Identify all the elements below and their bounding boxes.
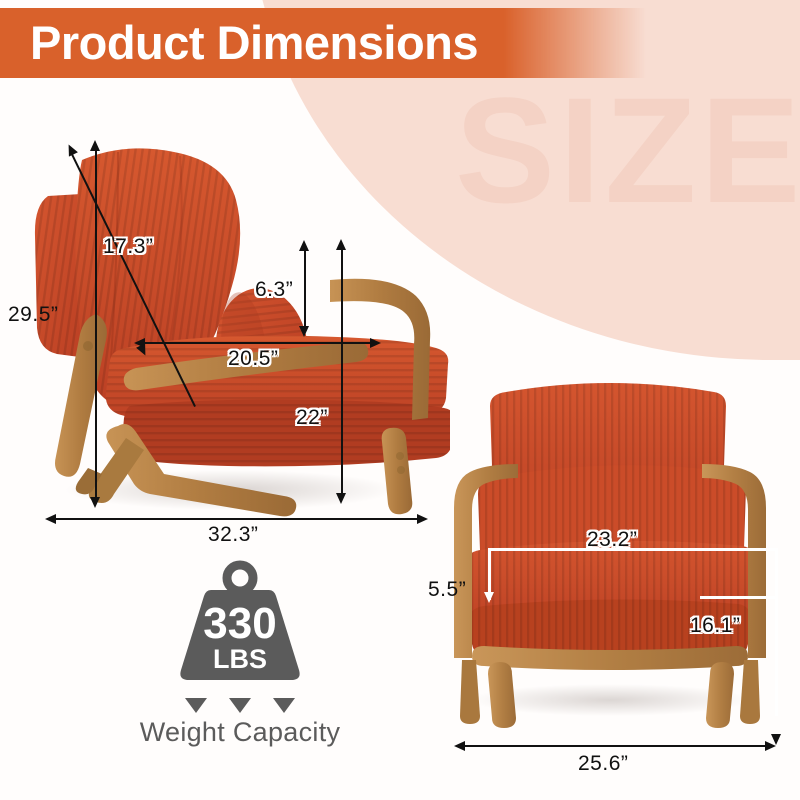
down-triangle-icon-2 [229, 698, 251, 713]
weight-amount-text: 330 [203, 599, 276, 648]
arrow-arm-height-bottom [336, 493, 346, 504]
down-triangle-icon-3 [273, 698, 295, 713]
arrow-overall-height-bottom [90, 497, 100, 508]
dim-overall-width: 25.6” [578, 752, 628, 776]
weight-arrows-row [130, 698, 350, 713]
dim-seat-width: 23.2” [587, 528, 637, 552]
weight-capacity-caption: Weight Capacity [130, 717, 350, 748]
arrow-arm-above-bottom [299, 326, 309, 337]
rule-overall-depth [55, 518, 420, 520]
rule-arm-height [341, 247, 343, 497]
rule-seat-depth [143, 342, 373, 344]
dim-arm-height-above-seat: 6.3” [255, 278, 293, 302]
arrow-cushion-thickness-bottom [484, 592, 494, 603]
arrow-seat-height-bottom [771, 734, 781, 745]
rule-seat-width-right-tick [775, 548, 778, 600]
rule-seat-height-cap [700, 596, 778, 599]
weight-icon: 330 LBS [165, 560, 315, 690]
arrow-overall-height-top [90, 140, 100, 151]
rule-arm-height-above-seat [304, 248, 306, 330]
dim-overall-depth: 32.3” [208, 523, 258, 547]
dim-overall-height: 29.5” [8, 303, 58, 327]
arrow-arm-above-top [299, 240, 309, 251]
infographic-canvas: SIZE Product Dimensions [0, 0, 800, 800]
dim-seat-height: 16.1” [690, 614, 740, 638]
page-title: Product Dimensions [30, 8, 478, 78]
arrow-arm-height-top [336, 239, 346, 250]
dim-arm-height: 22” [296, 406, 328, 430]
arrow-overall-width-left [454, 741, 465, 751]
arrow-seat-depth-left [134, 338, 145, 348]
arrow-overall-depth-left [45, 514, 56, 524]
arrow-overall-depth-right [417, 514, 428, 524]
arrow-seat-depth-right [370, 338, 381, 348]
rule-overall-width [463, 745, 768, 747]
weight-unit-text: LBS [213, 644, 267, 674]
weight-capacity-badge: 330 LBS Weight Capacity [130, 560, 350, 748]
down-triangle-icon-1 [185, 698, 207, 713]
rule-seat-height [775, 596, 778, 716]
size-watermark-text: SIZE [455, 75, 800, 225]
dim-backrest-height: 17.3” [103, 235, 153, 259]
dim-seat-depth: 20.5” [228, 347, 278, 371]
dim-cushion-thickness: 5.5” [428, 578, 466, 602]
